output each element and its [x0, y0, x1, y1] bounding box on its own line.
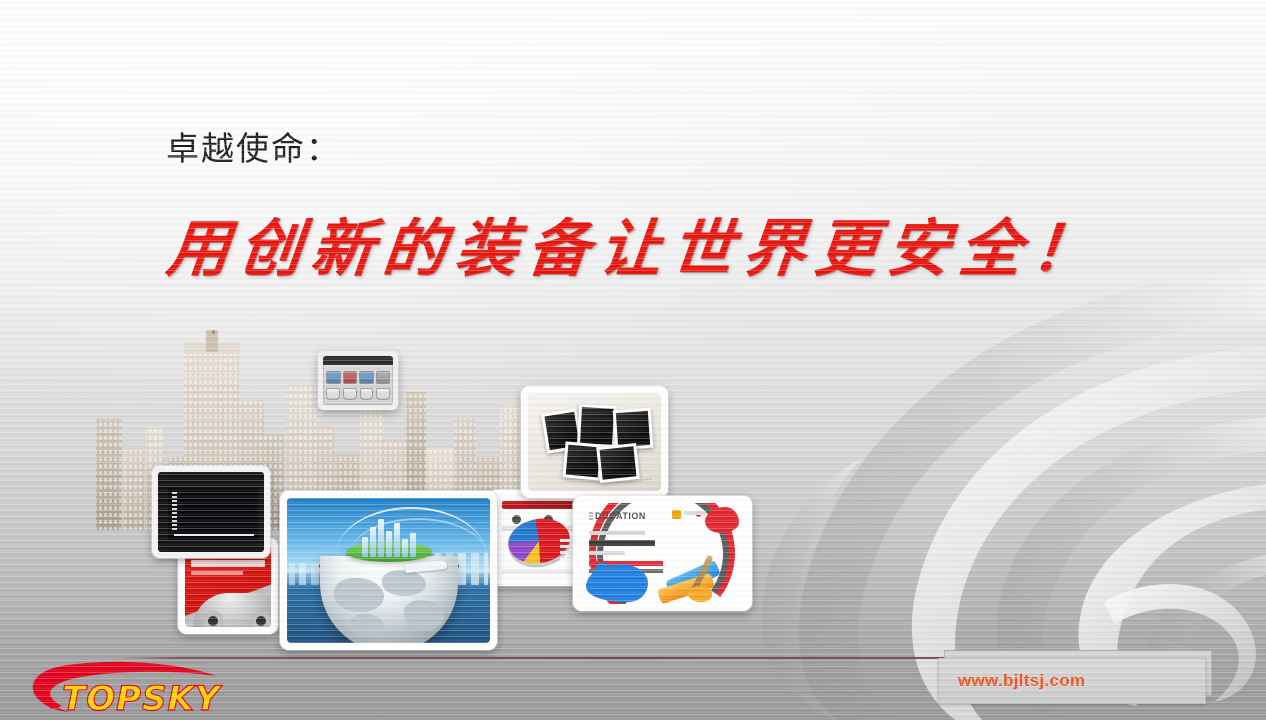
- education-card-art: DUCATION: [580, 503, 745, 604]
- collage-art: 。。。。: [528, 393, 661, 491]
- electrical-panel-card: [318, 351, 398, 410]
- mission-label: 卓越使命：: [166, 122, 341, 170]
- topsky-logo[interactable]: TOPSKY: [18, 660, 230, 720]
- chart-baseline: [174, 534, 254, 536]
- chart-axis: [172, 492, 177, 530]
- chart-bars: [182, 492, 254, 530]
- globe-art: [287, 498, 490, 643]
- panel-breaker-row: [326, 371, 390, 384]
- education-card: DUCATION: [573, 496, 752, 611]
- education-brand-label: DUCATION: [589, 511, 646, 521]
- monitor-screen: [168, 488, 258, 540]
- panel-socket-row: [326, 388, 390, 400]
- monitor-bezel: [158, 472, 264, 552]
- collage-caption: 。。。。: [640, 474, 655, 483]
- monitor-bar-chart-card: [152, 466, 270, 558]
- green-earth-globe-card: [280, 491, 497, 650]
- website-url-text[interactable]: www.bjltsj.com: [958, 671, 1085, 691]
- topsky-wordmark: TOPSKY: [62, 679, 223, 719]
- panel-top-strip: [323, 356, 393, 365]
- slide-canvas: 卓越使命： 用创新的装备让世界更安全！: [0, 0, 1266, 720]
- photo-collage-card: 。。。。: [521, 386, 668, 498]
- website-url-plate[interactable]: www.bjltsj.com: [938, 650, 1210, 704]
- mission-slogan: 用创新的装备让世界更安全！: [163, 198, 1108, 288]
